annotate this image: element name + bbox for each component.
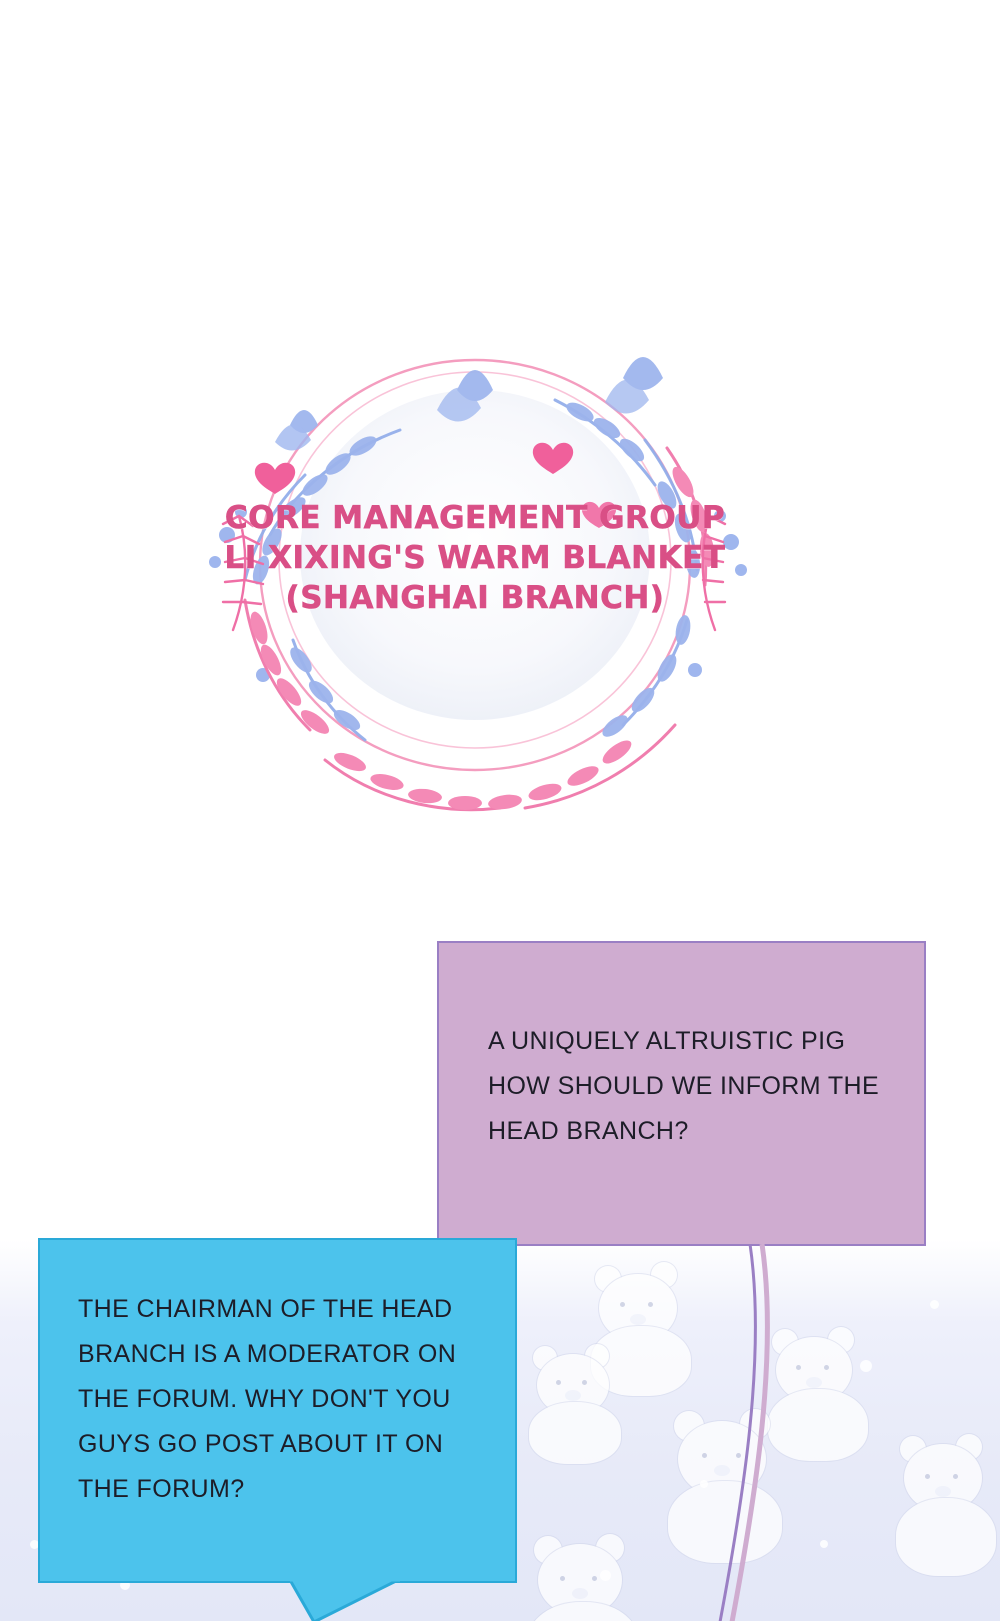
bubble-line: BRANCH IS A MODERATOR ON [78,1332,485,1377]
bubble-line: THE CHAIRMAN OF THE HEAD [78,1287,485,1332]
speech-bubble-blue: THE CHAIRMAN OF THE HEAD BRANCH IS A MOD… [38,1238,517,1583]
speech-tail-purple [700,1244,780,1621]
polar-bear-decor [520,1530,650,1621]
snow-dot [820,1540,828,1548]
speech-bubble-purple: A UNIQUELY ALTRUISTIC PIG HOW SHOULD WE … [437,941,926,1246]
snow-dot [860,1360,872,1372]
polar-bear-decor [890,1430,1000,1580]
floral-wreath-decor: CORE MANAGEMENT GROUP LI XIXING'S WARM B… [175,330,775,820]
bubble-line: THE FORUM. WHY DON'T YOU [78,1377,485,1422]
page-title: CORE MANAGEMENT GROUP LI XIXING'S WARM B… [175,498,775,618]
bubble-line: A UNIQUELY ALTRUISTIC PIG [488,1019,882,1064]
speech-tail-blue [290,1578,410,1621]
polar-bear-decor [525,1340,635,1465]
title-line-3: (SHANGHAI BRANCH) [175,578,775,618]
bubble-line: GUYS GO POST ABOUT IT ON [78,1422,485,1467]
bubble-line: HOW SHOULD WE INFORM THE [488,1064,882,1109]
bubble-line: THE FORUM? [78,1467,485,1512]
snow-dot [600,1570,611,1581]
comic-page: CORE MANAGEMENT GROUP LI XIXING'S WARM B… [0,0,1000,1621]
snow-dot [930,1300,939,1309]
title-line-1: CORE MANAGEMENT GROUP [175,498,775,538]
title-line-2: LI XIXING'S WARM BLANKET [175,538,775,578]
bubble-line: HEAD BRANCH? [488,1109,882,1154]
